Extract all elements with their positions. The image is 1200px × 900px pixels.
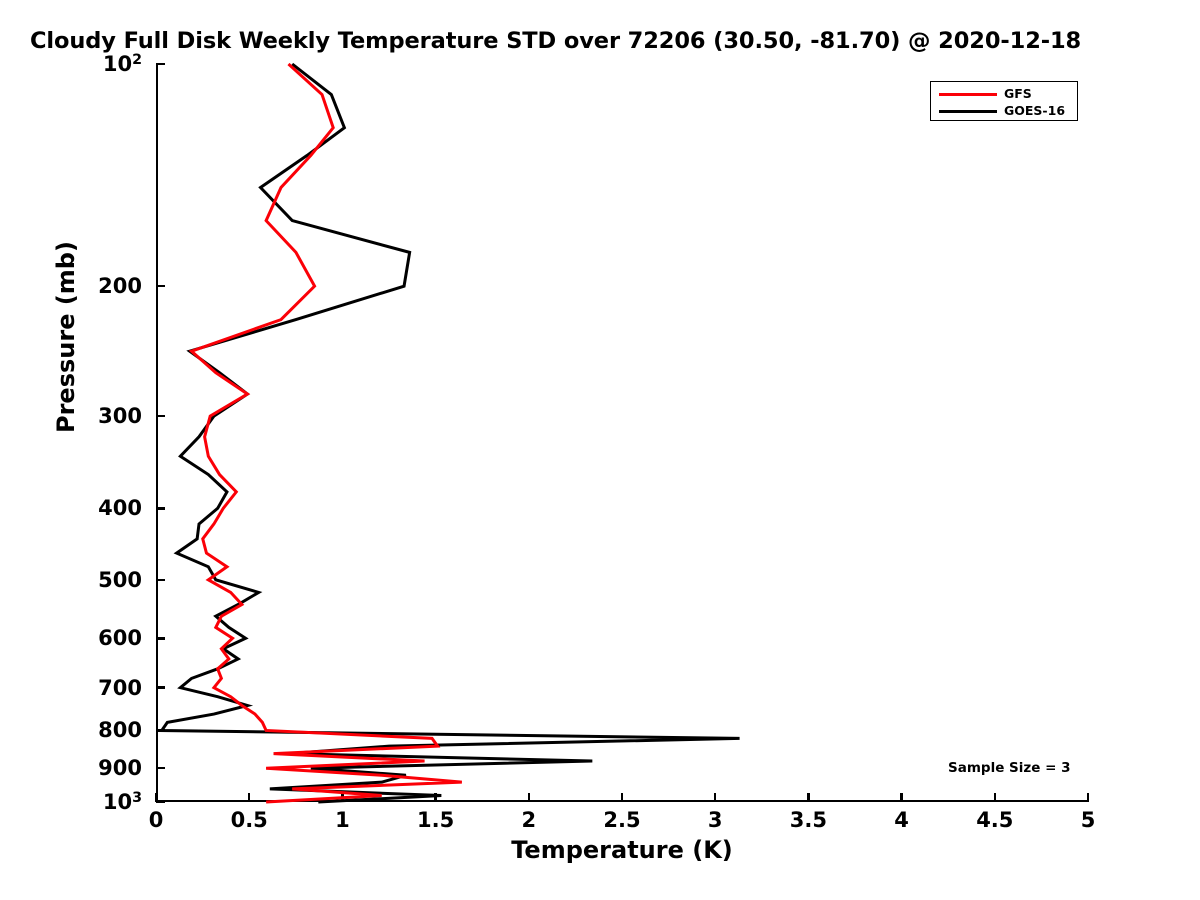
plot-area [156,64,1088,802]
y-axis-tick-label: 102 [103,52,142,76]
x-axis-tick-label: 4 [894,808,909,832]
y-axis-tick-label: 500 [98,568,142,592]
x-axis-tick-label: 2.5 [603,808,640,832]
figure-canvas: Cloudy Full Disk Weekly Temperature STD … [0,0,1200,900]
x-axis-tick-label: 1 [335,808,350,832]
y-axis-tick-label: 700 [98,676,142,700]
x-axis-tick-label: 3 [708,808,723,832]
x-axis-tick-label: 0 [149,808,164,832]
legend: GFS GOES-16 [930,81,1078,121]
data-lines-svg [158,64,1090,802]
x-axis-tick-label: 5 [1081,808,1096,832]
page-title: Cloudy Full Disk Weekly Temperature STD … [30,28,1081,54]
legend-label-gfs: GFS [1004,88,1032,101]
legend-swatch-goes-16-icon [939,110,997,113]
y-axis-tick-label: 103 [103,790,142,814]
y-axis-tick-label: 200 [98,274,142,298]
series-line-goes-16 [162,64,740,802]
legend-label-goes-16: GOES-16 [1004,105,1065,118]
y-axis-tick-label: 300 [98,404,142,428]
x-axis-tick-label: 3.5 [790,808,827,832]
y-axis-tick-label: 400 [98,496,142,520]
x-axis-tick-label: 2 [521,808,536,832]
x-axis-tick-label: 0.5 [231,808,268,832]
x-axis-tick-label: 1.5 [417,808,454,832]
legend-item-goes-16: GOES-16 [931,101,1077,121]
y-axis-tick-label: 600 [98,626,142,650]
y-axis-tick-label: 900 [98,756,142,780]
y-axis-tick-label: 800 [98,718,142,742]
y-axis-label: Pressure (mb) [52,241,80,433]
x-axis-label: Temperature (K) [511,836,733,864]
legend-swatch-gfs-icon [939,93,997,96]
x-axis-tick-label: 4.5 [976,808,1013,832]
sample-size-annotation: Sample Size = 3 [948,760,1071,776]
series-line-gfs [192,64,462,802]
